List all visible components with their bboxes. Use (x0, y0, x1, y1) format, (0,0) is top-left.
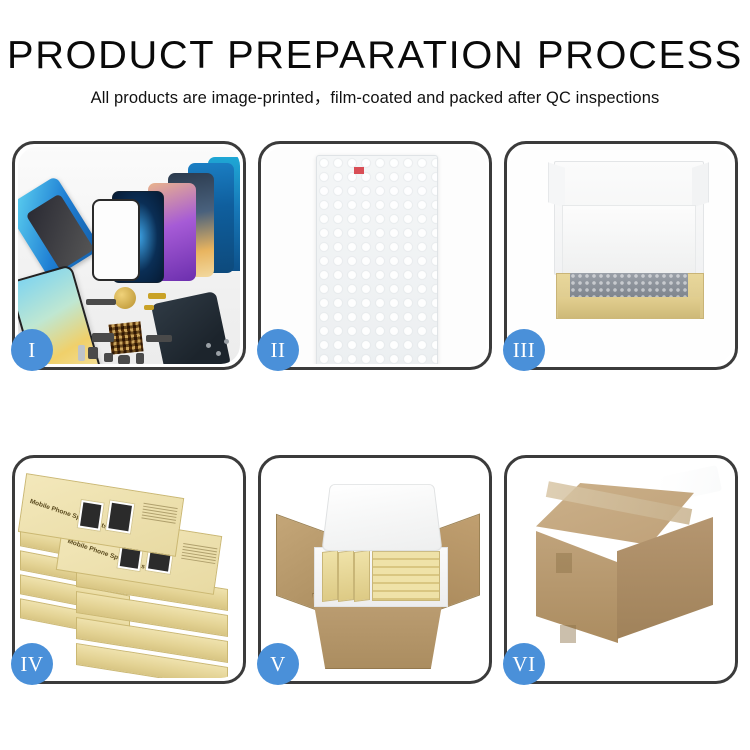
process-steps-grid: I II III (12, 141, 738, 684)
panel-4-image: Mobile Phone Spare Parts Mobile Phone Sp… (18, 461, 240, 678)
panel-step-6[interactable]: VI (504, 455, 738, 684)
panel-step-5[interactable]: V (258, 455, 492, 684)
step-badge-2: II (257, 329, 299, 371)
panel-6-image (510, 461, 732, 678)
panel-step-1[interactable]: I (12, 141, 246, 370)
step-badge-3: III (503, 329, 545, 371)
panel-2-image (264, 147, 486, 364)
step-badge-6: VI (503, 643, 545, 685)
step-badge-5: V (257, 643, 299, 685)
panel-3-image (510, 147, 732, 364)
panel-step-2[interactable]: II (258, 141, 492, 370)
panel-step-4[interactable]: Mobile Phone Spare Parts Mobile Phone Sp… (12, 455, 246, 684)
step-badge-1: I (11, 329, 53, 371)
panel-1-image (18, 147, 240, 364)
page-title: PRODUCT PREPARATION PROCESS (0, 34, 750, 78)
panel-5-image (264, 461, 486, 678)
panel-step-3[interactable]: III (504, 141, 738, 370)
page-header: PRODUCT PREPARATION PROCESS All products… (0, 0, 750, 109)
step-badge-4: IV (11, 643, 53, 685)
page-subtitle: All products are image-printed，film-coat… (0, 87, 750, 109)
